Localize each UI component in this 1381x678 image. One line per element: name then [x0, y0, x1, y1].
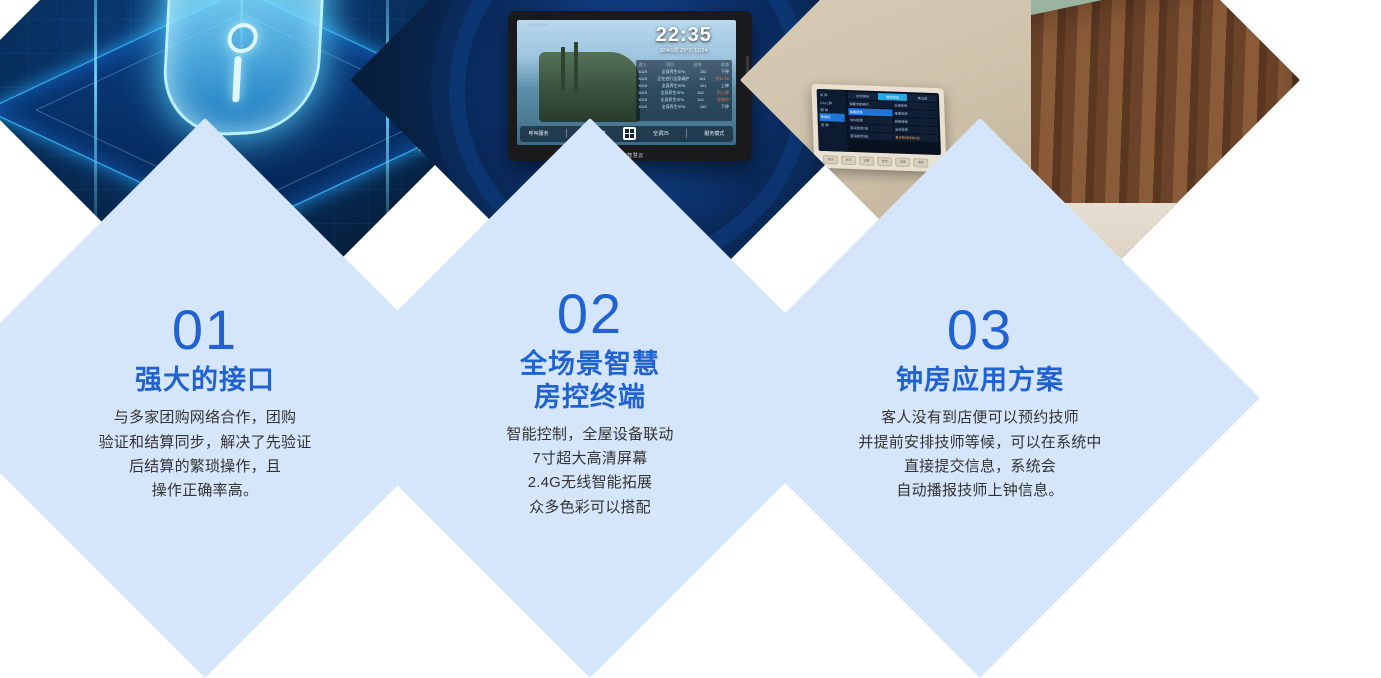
panel-tab[interactable]: 营业报	[908, 94, 937, 102]
tablet-brand: CSI2WO	[529, 22, 548, 27]
panel-cell[interactable]: 正规技师	[893, 101, 937, 110]
feature-diamond-board: CSI2WO 22:35 SPA6层 25°C 11/24 进入	[0, 0, 1381, 603]
tablet-device: CSI2WO 22:35 SPA6层 25°C 11/24 进入	[508, 11, 752, 161]
col-status: 状态	[721, 62, 729, 68]
panel-cell[interactable]: 客房技师2级	[849, 124, 893, 133]
card-body: 客人没有到店便可以预约技师 并提前安排技师等候，可以在系统中 直接提交信息，系统…	[858, 406, 1101, 503]
table-row: 6119 全身养生SPA 162 空闲中	[638, 97, 730, 104]
clock-meta: SPA6层 25°C 11/24	[636, 47, 732, 54]
col-enter: 进入	[639, 62, 647, 68]
card-number: 02	[557, 286, 623, 342]
table-row: 6119 全身养生SPA 161 上钟	[638, 83, 730, 90]
panel-cell-alert[interactable]: 重点技师排钟2级	[894, 133, 938, 142]
panel-cell[interactable]: 足浴技师	[894, 125, 938, 134]
list-header-row: 进入 项目 技师 状态	[638, 62, 730, 69]
col-item: 项目	[666, 62, 674, 68]
apps-grid-icon[interactable]	[623, 127, 636, 140]
panel-tab-active[interactable]: 客房状态	[878, 93, 907, 101]
panel-button[interactable]: 音量	[895, 157, 910, 167]
table-row: 6119 全身养生SPA 162 约上钟	[638, 90, 730, 97]
card-title: 强大的接口	[135, 364, 275, 397]
panel-cell-selected[interactable]: 保健经理	[848, 108, 892, 117]
panel-tab[interactable]: 技师排钟	[848, 92, 877, 100]
panel-button[interactable]: 返回	[823, 155, 838, 165]
panel-cell[interactable]: 推拿技师	[893, 109, 937, 118]
card-title: 全场景智慧 房控终端	[520, 348, 660, 414]
tablet-button-call-service[interactable]: 呼叫服务	[529, 130, 549, 137]
tablet-clock: 22:35 SPA6层 25°C 11/24	[636, 25, 732, 54]
table-row: 6119 正在进行全身调护 161 约11'50	[638, 76, 730, 83]
panel-cell[interactable]: 保健专家预约	[848, 100, 892, 109]
wall-control-panel: 点 钟 CALL钟 圈 钟 等候区 选 钟 技师排钟 客房状态 营业报	[811, 83, 946, 172]
card-body: 与多家团购网络合作，团购 验证和结算同步，解决了先验证 后结算的繁琐操作，且 操…	[99, 406, 312, 503]
panel-column-left: 保健专家预约 保健经理 SPA经理 客房技师2级 客房技师3级	[848, 100, 893, 142]
panel-column-right: 正规技师 推拿技师 新颖经理 足浴技师 重点技师排钟2级	[893, 101, 938, 143]
card-title: 钟房应用方案	[896, 364, 1064, 397]
panel-menu-item[interactable]: 选 钟	[819, 120, 845, 128]
tablet-button-aircon[interactable]: 空调25	[653, 130, 669, 137]
panel-button[interactable]: 设置	[859, 156, 874, 166]
card-number: 03	[947, 302, 1013, 358]
card-body: 智能控制，全屋设备联动 7寸超大高清屏幕 2.4G无线智能拓展 众多色彩可以搭配	[506, 423, 673, 520]
panel-button[interactable]: 主页	[841, 155, 856, 165]
col-tech: 技师	[694, 62, 702, 68]
clock-time: 22:35	[636, 25, 732, 45]
tablet-bottom-bar: 呼叫服务 灯光/窗帘 空调25 服务模式	[520, 126, 733, 142]
panel-button[interactable]: 查询	[877, 156, 892, 166]
panel-cell[interactable]: SPA经理	[849, 116, 893, 125]
panel-button[interactable]: 电源	[913, 158, 928, 168]
table-row: 6119 全身养生SPA 162 下钟	[638, 69, 730, 76]
panel-hardware-buttons: 返回 主页 设置 查询 音量 电源	[819, 154, 942, 167]
panel-left-menu: 点 钟 CALL钟 圈 钟 等候区 选 钟	[816, 88, 847, 151]
panel-cell[interactable]: 新颖经理	[894, 117, 938, 126]
panel-cell[interactable]: 客房技师3级	[849, 132, 893, 141]
card-number: 01	[172, 302, 238, 358]
tablet-button-service-mode[interactable]: 服务模式	[704, 130, 724, 137]
table-row: 6119 全身养生SPA 162 下钟	[638, 104, 730, 111]
tablet-service-list: 进入 项目 技师 状态 6119 全身养生SPA 162 下钟	[636, 60, 732, 121]
